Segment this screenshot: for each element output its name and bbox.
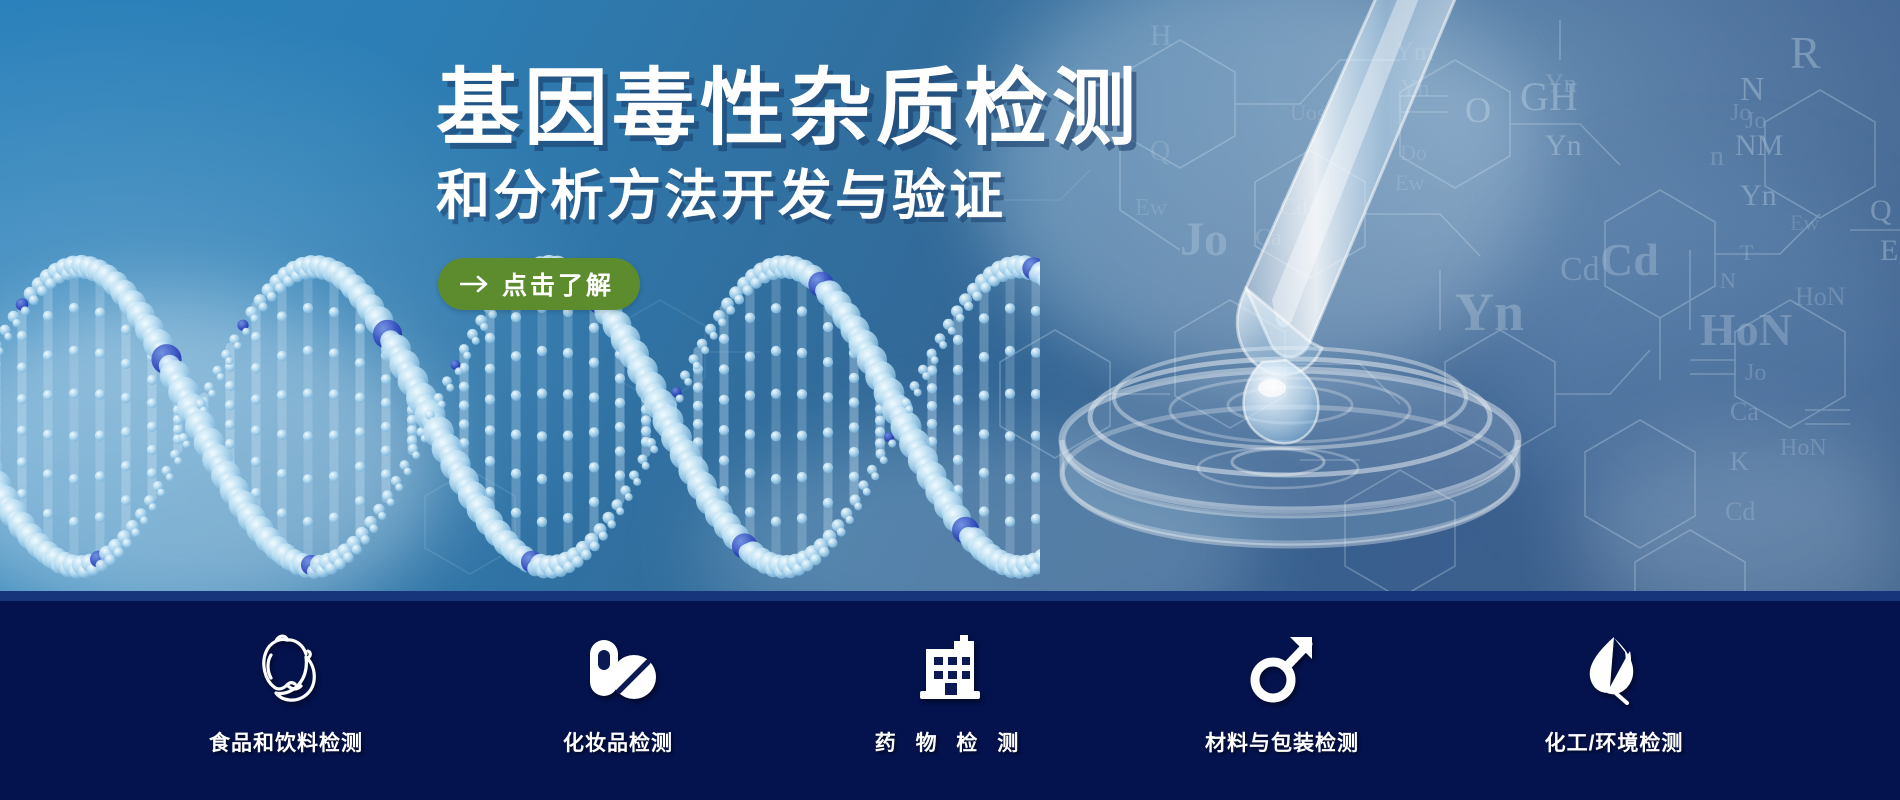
svg-text:N: N xyxy=(1720,268,1736,293)
svg-text:Jo: Jo xyxy=(1745,360,1766,386)
nav-item-label: 化妆品检测 xyxy=(563,727,673,757)
accent-stripe xyxy=(0,591,1900,601)
svg-text:Q: Q xyxy=(1870,194,1892,227)
nav-item-material-packaging[interactable]: 材料与包装检测 xyxy=(1116,631,1448,757)
svg-text:Yn: Yn xyxy=(1455,282,1524,342)
svg-text:Cd: Cd xyxy=(1600,234,1659,285)
nav-item-chemical-environment[interactable]: 化工/环境检测 xyxy=(1448,631,1780,757)
svg-text:Cd: Cd xyxy=(1560,251,1600,288)
nav-item-label: 化工/环境检测 xyxy=(1545,727,1684,757)
svg-text:Cd: Cd xyxy=(1725,497,1755,526)
svg-text:NM: NM xyxy=(1735,129,1783,162)
capsule-pill-icon xyxy=(575,631,661,709)
learn-more-label: 点击了解 xyxy=(502,266,614,302)
svg-text:Yn: Yn xyxy=(1545,129,1582,162)
svg-text:Ym: Ym xyxy=(1395,37,1434,66)
svg-text:n: n xyxy=(1710,141,1724,172)
svg-text:Ca: Ca xyxy=(1730,397,1759,426)
light-bloom xyxy=(1580,430,1900,591)
category-navbar: 食品和饮料检测 化妆品检测 xyxy=(0,601,1900,800)
svg-text:Uos: Uos xyxy=(1290,100,1325,125)
svg-text:K: K xyxy=(1730,447,1749,476)
nav-item-label: 材料与包装检测 xyxy=(1205,727,1359,757)
svg-text:Ew: Ew xyxy=(1790,210,1819,235)
svg-text:Yn: Yn xyxy=(1545,69,1577,98)
hospital-cross-icon xyxy=(907,631,993,709)
page-subtitle: 和分析方法开发与验证 xyxy=(436,164,1196,228)
svg-text:Jo: Jo xyxy=(1730,100,1751,126)
svg-text:H: H xyxy=(1150,19,1172,52)
svg-text:HoN: HoN xyxy=(1700,304,1792,355)
svg-text:O: O xyxy=(1465,90,1491,130)
svg-text:HoN: HoN xyxy=(1780,435,1827,461)
svg-text:Ew: Ew xyxy=(1395,170,1424,195)
svg-text:GH: GH xyxy=(1520,74,1578,119)
svg-text:R: R xyxy=(1790,27,1821,78)
apple-banana-icon xyxy=(243,631,329,709)
svg-text:HoN: HoN xyxy=(1795,282,1846,311)
svg-text:E: E xyxy=(1880,234,1898,267)
hero-section: GH R N Yn Yn Yn Jo Jo NM T N Jo Ca K Q E… xyxy=(0,0,1900,591)
svg-text:Jo: Jo xyxy=(1745,108,1766,134)
leaf-icon xyxy=(1571,631,1657,709)
learn-more-button[interactable]: 点击了解 xyxy=(438,258,640,310)
light-bloom xyxy=(1500,170,1900,570)
svg-text:T: T xyxy=(1740,240,1754,265)
page-title: 基因毒性杂质检测 xyxy=(436,60,1196,156)
svg-text:Yn: Yn xyxy=(1400,76,1429,102)
nav-item-cosmetics[interactable]: 化妆品检测 xyxy=(452,631,784,757)
nav-item-food-beverage[interactable]: 食品和饮料检测 xyxy=(120,631,452,757)
light-bloom xyxy=(0,300,440,591)
nav-item-label: 药 物 检 测 xyxy=(875,727,1026,757)
nav-item-pharmaceutical[interactable]: 药 物 检 测 xyxy=(784,631,1116,757)
svg-text:Do: Do xyxy=(1400,140,1427,165)
mars-symbol-icon xyxy=(1239,631,1325,709)
svg-text:Cd: Cd xyxy=(1280,195,1308,221)
light-bloom xyxy=(700,430,1260,591)
hero-banner-page: GH R N Yn Yn Yn Jo Jo NM T N Jo Ca K Q E… xyxy=(0,0,1900,800)
hero-copy: 基因毒性杂质检测 和分析方法开发与验证 点击了解 xyxy=(436,60,1196,310)
nav-item-label: 食品和饮料检测 xyxy=(209,727,363,757)
svg-text:N: N xyxy=(1740,71,1765,108)
svg-text:Yn: Yn xyxy=(1740,179,1777,212)
arrow-right-icon xyxy=(460,274,490,294)
svg-text:Ca: Ca xyxy=(1255,225,1282,251)
